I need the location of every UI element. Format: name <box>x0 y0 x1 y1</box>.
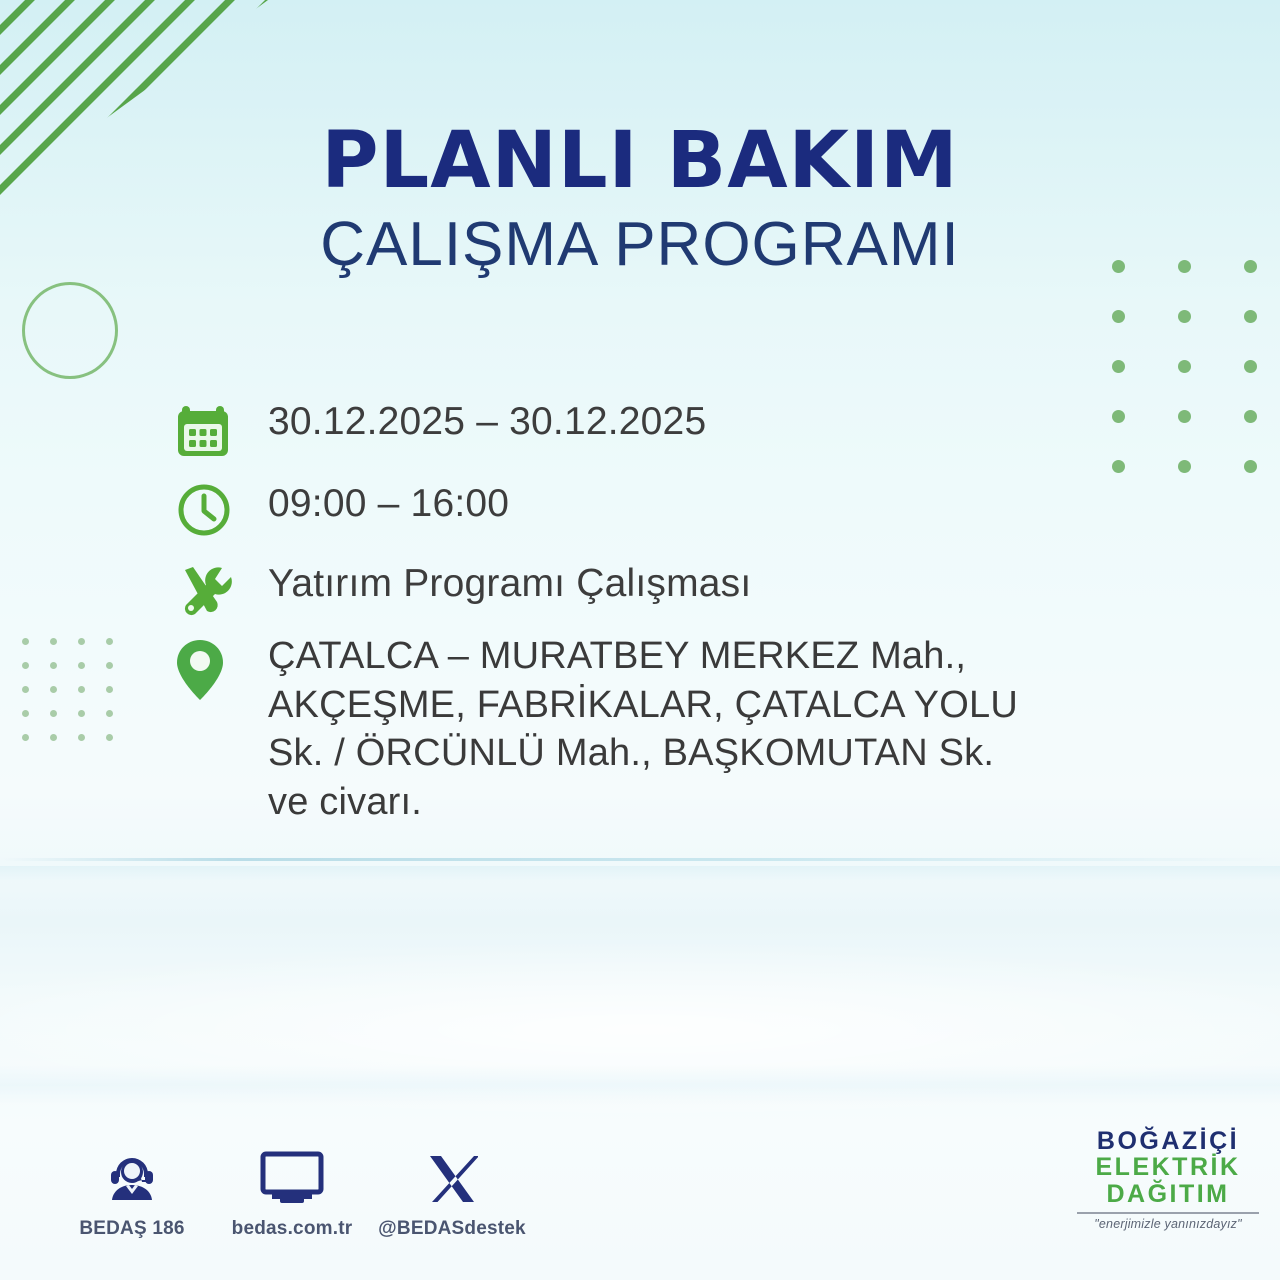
info-list: 30.12.2025 – 30.12.2025 09:00 – 16:00 <box>176 398 1076 827</box>
dot-grid-right-decoration <box>1112 260 1280 510</box>
background-band-lower <box>0 1065 1280 1105</box>
tools-icon <box>176 560 268 618</box>
poster-background: PLANLI BAKIM ÇALIŞMA PROGRAMI <box>0 0 1280 1280</box>
work-type-text: Yatırım Programı Çalışması <box>268 560 751 603</box>
footer-item-phone[interactable]: BEDAŞ 186 <box>52 1148 212 1240</box>
background-band-soft <box>0 866 1280 882</box>
info-row-location: ÇATALCA – MURATBEY MERKEZ Mah., AKÇEŞME,… <box>176 632 1076 827</box>
circle-outline-decoration <box>22 282 118 379</box>
date-range-text: 30.12.2025 – 30.12.2025 <box>268 398 706 441</box>
clock-icon <box>176 480 268 538</box>
footer-label-phone: BEDAŞ 186 <box>52 1218 212 1240</box>
info-row-date: 30.12.2025 – 30.12.2025 <box>176 398 1076 458</box>
dot-grid-left-decoration <box>22 638 134 758</box>
info-row-time: 09:00 – 16:00 <box>176 480 1076 538</box>
logo-line-elektrik: ELEKTRİK <box>1073 1154 1263 1180</box>
map-pin-icon <box>176 632 268 702</box>
logo-divider <box>1077 1212 1259 1214</box>
time-range-text: 09:00 – 16:00 <box>268 480 509 523</box>
x-logo-icon <box>372 1148 532 1210</box>
poster-header: PLANLI BAKIM ÇALIŞMA PROGRAMI <box>0 122 1280 276</box>
calendar-icon <box>176 398 268 458</box>
support-agent-icon <box>52 1148 212 1210</box>
background-sheen <box>0 940 1280 1120</box>
footer-label-website: bedas.com.tr <box>212 1218 372 1240</box>
footer-label-social: @BEDASdestek <box>372 1218 532 1240</box>
logo-line-bogazici: BOĞAZİÇİ <box>1073 1128 1263 1154</box>
page-subtitle: ÇALIŞMA PROGRAMI <box>0 214 1280 276</box>
page-title: PLANLI BAKIM <box>0 122 1280 200</box>
footer-contact-bar: BEDAŞ 186 bedas.com.tr @BEDASdestek <box>52 1148 532 1240</box>
location-text: ÇATALCA – MURATBEY MERKEZ Mah., AKÇEŞME,… <box>268 632 1028 827</box>
logo-tagline: "enerjimizle yanınızdayız" <box>1073 1217 1263 1231</box>
info-row-work-type: Yatırım Programı Çalışması <box>176 560 1076 618</box>
background-band-line <box>0 858 1280 861</box>
footer-item-website[interactable]: bedas.com.tr <box>212 1148 372 1240</box>
logo-line-dagitim: DAĞITIM <box>1073 1181 1263 1207</box>
monitor-icon <box>212 1148 372 1210</box>
footer-item-social[interactable]: @BEDASdestek <box>372 1148 532 1240</box>
company-logo: BOĞAZİÇİ ELEKTRİK DAĞITIM "enerjimizle y… <box>1073 1128 1263 1231</box>
